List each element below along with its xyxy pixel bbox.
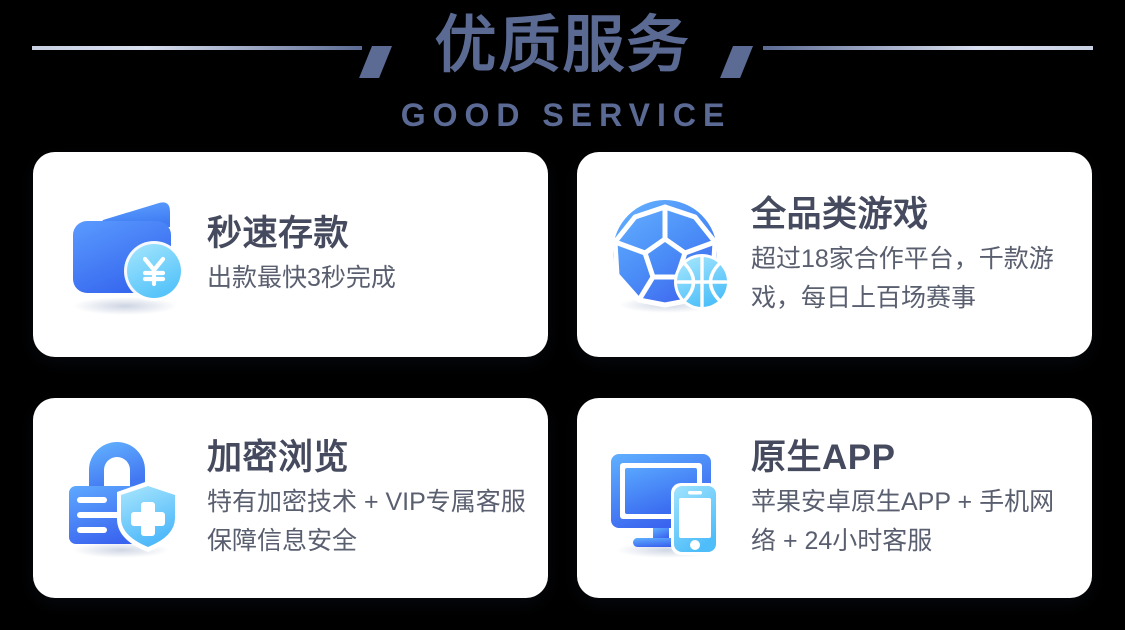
feature-card-text: 秒速存款 出款最快3秒完成 — [207, 211, 530, 298]
wallet-yen-icon — [59, 187, 195, 323]
feature-card-deposit[interactable]: 秒速存款 出款最快3秒完成 — [33, 152, 548, 357]
lock-shield-icon — [59, 430, 195, 566]
feature-card-native-app[interactable]: 原生APP 苹果安卓原生APP + 手机网络 + 24小时客服 — [577, 398, 1092, 598]
feature-card-description: 出款最快3秒完成 — [207, 259, 530, 298]
feature-card-title: 秒速存款 — [207, 211, 530, 257]
feature-card-text: 加密浏览 特有加密技术 + VIP专属客服保障信息安全 — [207, 435, 530, 561]
page-header: 优质服务 GOOD SERVICE — [0, 0, 1125, 150]
page-title: 优质服务 — [0, 8, 1125, 84]
page-subtitle: GOOD SERVICE — [0, 96, 1125, 134]
feature-card-title: 原生APP — [751, 435, 1074, 481]
feature-card-title: 加密浏览 — [207, 435, 530, 481]
feature-card-grid: 秒速存款 出款最快3秒完成 — [33, 152, 1092, 598]
feature-card-description: 特有加密技术 + VIP专属客服保障信息安全 — [207, 483, 530, 561]
feature-card-games[interactable]: 全品类游戏 超过18家合作平台，千款游戏，每日上百场赛事 — [577, 152, 1092, 357]
feature-card-description: 苹果安卓原生APP + 手机网络 + 24小时客服 — [751, 483, 1074, 561]
soccer-basketball-icon — [603, 187, 739, 323]
feature-card-description: 超过18家合作平台，千款游戏，每日上百场赛事 — [751, 240, 1074, 318]
feature-card-title: 全品类游戏 — [751, 192, 1074, 238]
feature-card-text: 全品类游戏 超过18家合作平台，千款游戏，每日上百场赛事 — [751, 192, 1074, 318]
monitor-phone-icon — [603, 430, 739, 566]
feature-card-encryption[interactable]: 加密浏览 特有加密技术 + VIP专属客服保障信息安全 — [33, 398, 548, 598]
feature-card-text: 原生APP 苹果安卓原生APP + 手机网络 + 24小时客服 — [751, 435, 1074, 561]
